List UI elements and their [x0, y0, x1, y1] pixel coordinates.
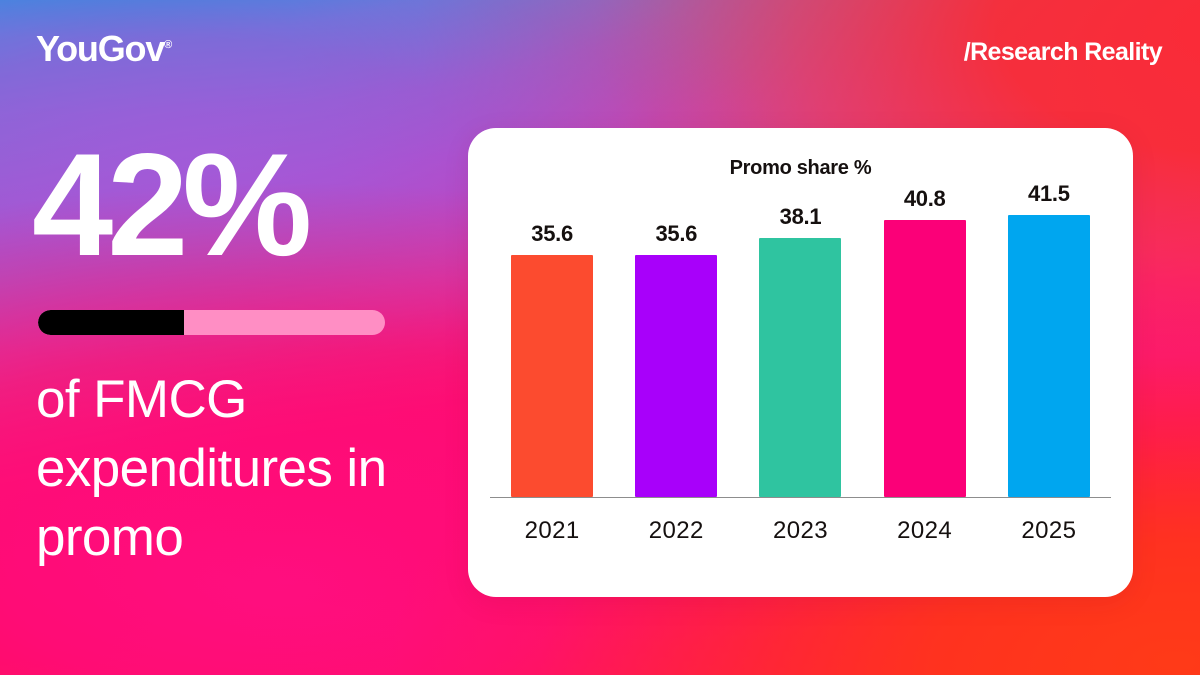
headline-stat-value: 42% [32, 135, 306, 275]
bar-group[interactable]: 35.6 [635, 191, 717, 497]
bar-group[interactable]: 38.1 [759, 191, 841, 497]
research-reality-tagline: /Research Reality [964, 40, 1162, 65]
x-axis-line [490, 497, 1111, 499]
progress-bar-fill [38, 310, 184, 335]
bar-value-label: 40.8 [862, 186, 988, 212]
x-axis-tick-labels: 20212022202320242025 [490, 511, 1111, 551]
x-axis-label: 2024 [884, 517, 966, 545]
bar-series: 35.635.638.140.841.5 [490, 191, 1111, 497]
bar-value-label: 35.6 [489, 221, 615, 247]
bar-value-label: 38.1 [737, 204, 863, 230]
bar-rect[interactable] [511, 255, 593, 497]
infographic-canvas: YouGov® /Research Reality 42% of FMCG ex… [0, 0, 1200, 675]
x-axis-label: 2025 [1008, 517, 1090, 545]
yougov-logo-text: YouGov [36, 28, 164, 69]
registered-trademark-icon: ® [164, 39, 172, 51]
chart-title: Promo share % [468, 157, 1133, 180]
chart-card: Promo share % 35.635.638.140.841.5 20212… [468, 128, 1133, 597]
chart-plot-area: 35.635.638.140.841.5 2021202220232024202… [490, 200, 1111, 569]
x-axis-label: 2022 [635, 517, 717, 545]
x-axis-label: 2021 [511, 517, 593, 545]
bar-value-label: 35.6 [613, 221, 739, 247]
progress-bar-track [38, 310, 385, 335]
bar-rect[interactable] [884, 220, 966, 497]
bar-rect[interactable] [759, 238, 841, 497]
x-axis-label: 2023 [759, 517, 841, 545]
bar-rect[interactable] [635, 255, 717, 497]
bar-group[interactable]: 40.8 [884, 191, 966, 497]
headline-stat-caption: of FMCG expenditures in promo [36, 366, 466, 573]
bar-rect[interactable] [1008, 215, 1090, 497]
bar-group[interactable]: 41.5 [1008, 191, 1090, 497]
bar-value-label: 41.5 [986, 181, 1112, 207]
yougov-logo: YouGov® [36, 31, 172, 67]
bar-group[interactable]: 35.6 [511, 191, 593, 497]
